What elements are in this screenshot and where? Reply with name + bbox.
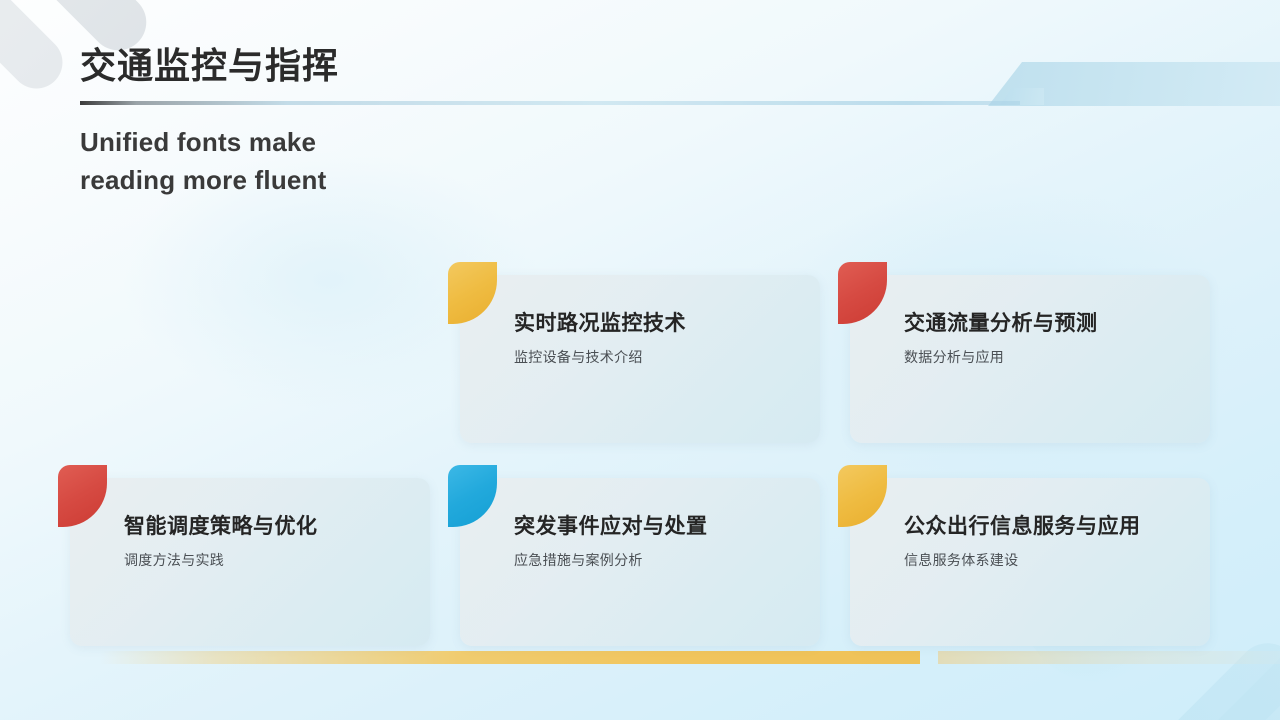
card-body: 实时路况监控技术监控设备与技术介绍 <box>514 311 804 366</box>
card-subtitle: 信息服务体系建设 <box>904 551 1194 569</box>
card-body: 交通流量分析与预测数据分析与应用 <box>904 311 1194 366</box>
topic-card[interactable]: 实时路况监控技术监控设备与技术介绍 <box>460 275 820 443</box>
card-title: 公众出行信息服务与应用 <box>904 514 1194 539</box>
card-subtitle: 监控设备与技术介绍 <box>514 348 804 366</box>
card-corner-accent-icon <box>448 465 497 527</box>
card-title: 突发事件应对与处置 <box>514 514 804 539</box>
topic-card[interactable]: 智能调度策略与优化调度方法与实践 <box>70 478 430 646</box>
card-corner-accent-icon <box>838 465 887 527</box>
card-title: 交通流量分析与预测 <box>904 311 1194 336</box>
card-subtitle: 数据分析与应用 <box>904 348 1194 366</box>
card-subtitle: 应急措施与案例分析 <box>514 551 804 569</box>
card-body: 突发事件应对与处置应急措施与案例分析 <box>514 514 804 569</box>
card-corner-accent-icon <box>448 262 497 324</box>
card-subtitle: 调度方法与实践 <box>124 551 414 569</box>
card-title: 智能调度策略与优化 <box>124 514 414 539</box>
card-corner-accent-icon <box>58 465 107 527</box>
card-body: 智能调度策略与优化调度方法与实践 <box>124 514 414 569</box>
slide-canvas: 交通监控与指挥 Unified fonts make reading more … <box>0 0 1280 720</box>
topic-card[interactable]: 交通流量分析与预测数据分析与应用 <box>850 275 1210 443</box>
card-body: 公众出行信息服务与应用信息服务体系建设 <box>904 514 1194 569</box>
card-corner-accent-icon <box>838 262 887 324</box>
card-title: 实时路况监控技术 <box>514 311 804 336</box>
topic-card[interactable]: 突发事件应对与处置应急措施与案例分析 <box>460 478 820 646</box>
card-grid: 实时路况监控技术监控设备与技术介绍交通流量分析与预测数据分析与应用智能调度策略与… <box>0 0 1280 720</box>
topic-card[interactable]: 公众出行信息服务与应用信息服务体系建设 <box>850 478 1210 646</box>
